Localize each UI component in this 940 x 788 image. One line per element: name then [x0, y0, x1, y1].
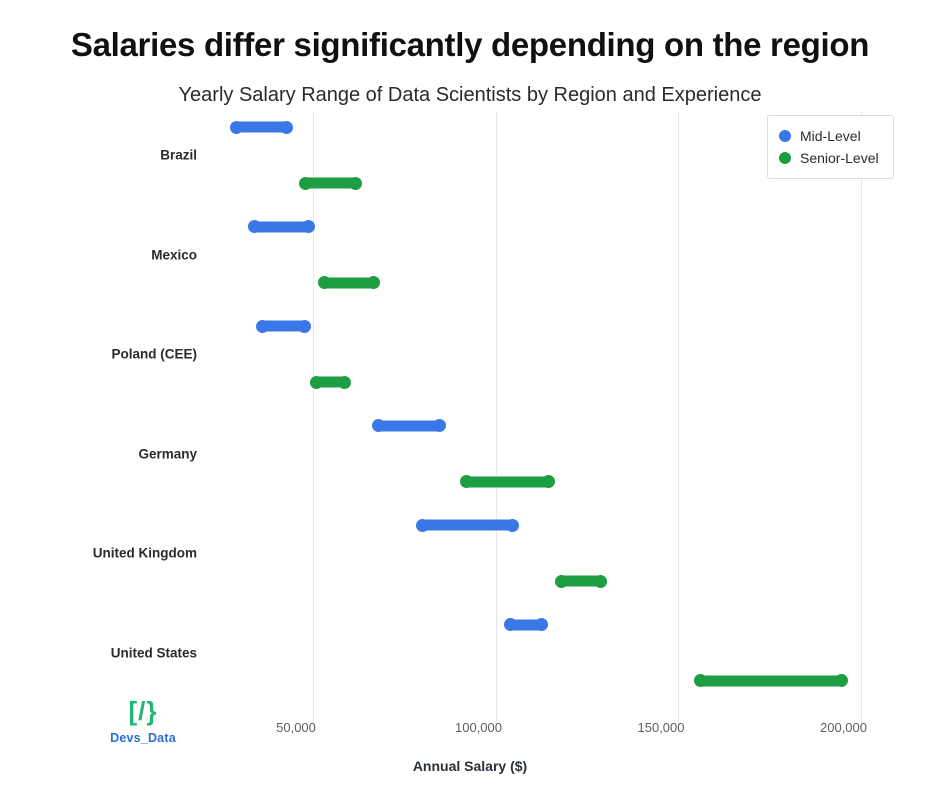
legend-label: Mid-Level [800, 128, 861, 144]
chart-title: Salaries differ significantly depending … [0, 26, 940, 64]
brand-watermark: [/} Devs_Data [78, 698, 208, 745]
range-end-dot [280, 121, 293, 134]
devsdata-logo-icon: [/} [78, 698, 208, 724]
range-start-dot [256, 320, 269, 333]
chart-container: Salaries differ significantly depending … [0, 0, 940, 788]
range-start-dot [504, 618, 517, 631]
range-start-dot [694, 674, 707, 687]
category-label-poland-cee: Poland (CEE) [0, 347, 197, 362]
range-end-dot [835, 674, 848, 687]
gridline [313, 112, 314, 732]
gridline [496, 112, 497, 732]
x-axis-label: Annual Salary ($) [0, 758, 940, 774]
range-start-dot [248, 220, 261, 233]
range-end-dot [433, 419, 446, 432]
range-mark [303, 178, 358, 189]
gridline [678, 112, 679, 732]
range-end-dot [506, 519, 519, 532]
gridline [861, 112, 862, 732]
range-mark [376, 420, 442, 431]
range-mark [464, 476, 552, 487]
range-end-dot [594, 575, 607, 588]
range-end-dot [542, 475, 555, 488]
range-end-dot [367, 276, 380, 289]
range-end-dot [298, 320, 311, 333]
range-start-dot [299, 177, 312, 190]
plot-area [0, 112, 940, 702]
x-tick-label: 100,000 [455, 720, 502, 735]
range-end-dot [302, 220, 315, 233]
legend-label: Senior-Level [800, 150, 879, 166]
range-start-dot [318, 276, 331, 289]
range-mark [234, 122, 289, 133]
brand-name: Devs_Data [78, 731, 208, 745]
x-tick-label: 200,000 [820, 720, 867, 735]
category-label-germany: Germany [0, 446, 197, 461]
range-mark [698, 675, 844, 686]
range-mark [508, 619, 545, 630]
legend[interactable]: Mid-LevelSenior-Level [767, 115, 894, 179]
range-end-dot [338, 376, 351, 389]
range-start-dot [416, 519, 429, 532]
range-mark [420, 520, 515, 531]
category-label-united-states: United States [0, 645, 197, 660]
range-start-dot [555, 575, 568, 588]
range-end-dot [535, 618, 548, 631]
range-start-dot [372, 419, 385, 432]
category-label-united-kingdom: United Kingdom [0, 546, 197, 561]
range-start-dot [230, 121, 243, 134]
x-tick-label: 50,000 [276, 720, 316, 735]
range-mark [322, 277, 377, 288]
range-mark [559, 576, 603, 587]
category-label-mexico: Mexico [0, 247, 197, 262]
range-start-dot [460, 475, 473, 488]
range-start-dot [310, 376, 323, 389]
range-mark [314, 377, 347, 388]
chart-subtitle: Yearly Salary Range of Data Scientists b… [0, 84, 940, 107]
legend-item-mid-level[interactable]: Mid-Level [779, 125, 879, 147]
x-tick-label: 150,000 [638, 720, 685, 735]
range-mark [260, 321, 307, 332]
legend-item-senior-level[interactable]: Senior-Level [779, 147, 879, 169]
range-end-dot [349, 177, 362, 190]
category-label-brazil: Brazil [0, 148, 197, 163]
legend-swatch-icon [779, 130, 791, 142]
range-mark [252, 221, 310, 232]
legend-swatch-icon [779, 152, 791, 164]
